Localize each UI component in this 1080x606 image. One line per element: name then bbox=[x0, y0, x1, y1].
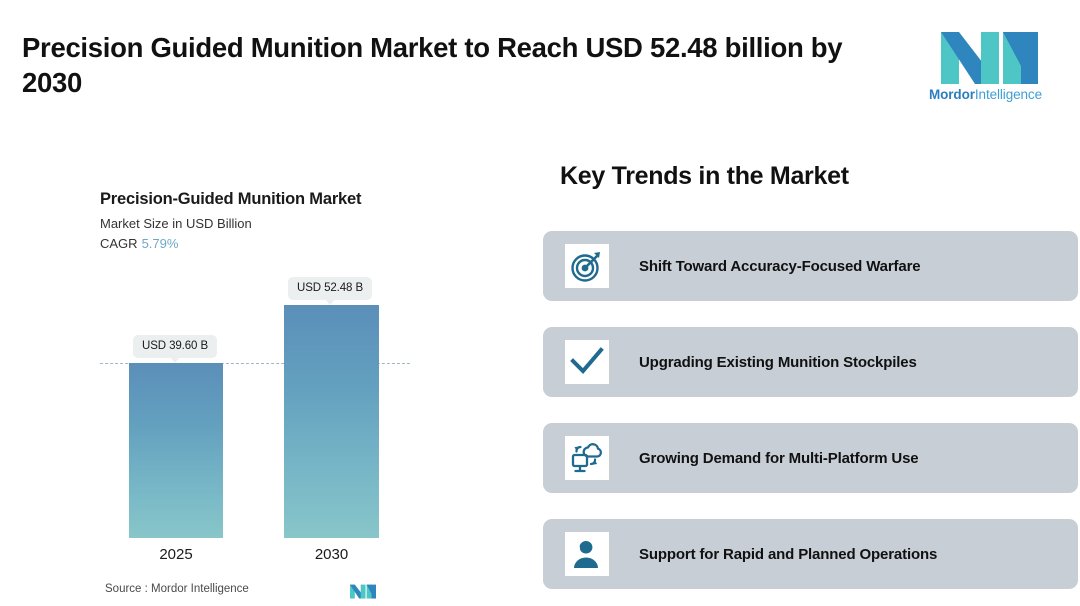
page-title: Precision Guided Munition Market to Reac… bbox=[22, 30, 902, 100]
bar-value-label-2030: USD 52.48 B bbox=[288, 277, 372, 300]
trend-card-4-label: Support for Rapid and Planned Operations bbox=[639, 519, 937, 589]
mordor-intelligence-mark-icon bbox=[350, 582, 376, 599]
trend-card-1[interactable]: Shift Toward Accuracy-Focused Warfare bbox=[543, 231, 1078, 301]
brand-name-light: Intelligence bbox=[975, 87, 1042, 102]
brand-logo: MordorIntelligence bbox=[913, 24, 1058, 106]
key-trends-panel: Key Trends in the Market Shift Toward Ac… bbox=[543, 140, 1080, 606]
mordor-intelligence-logo-icon bbox=[941, 24, 1038, 84]
source-label: Source : bbox=[105, 583, 148, 595]
trend-card-2[interactable]: Upgrading Existing Munition Stockpiles bbox=[543, 327, 1078, 397]
brand-name-bold: Mordor bbox=[929, 87, 975, 102]
bar-value-label-2025: USD 39.60 B bbox=[133, 335, 217, 358]
trend-card-3-label: Growing Demand for Multi-Platform Use bbox=[639, 423, 918, 493]
trend-card-1-label: Shift Toward Accuracy-Focused Warfare bbox=[639, 231, 920, 301]
checkmark-icon bbox=[565, 340, 609, 384]
chart-source: Source : Mordor Intelligence bbox=[105, 582, 405, 604]
page-header: Precision Guided Munition Market to Reac… bbox=[0, 0, 1080, 125]
bar-2025 bbox=[129, 363, 223, 538]
bar-2030 bbox=[284, 305, 379, 538]
cloud-sync-monitor-icon bbox=[565, 436, 609, 480]
trend-card-3[interactable]: Growing Demand for Multi-Platform Use bbox=[543, 423, 1078, 493]
source-name: Mordor Intelligence bbox=[151, 583, 249, 595]
x-axis-tick-2030: 2030 bbox=[284, 546, 379, 563]
key-trends-heading: Key Trends in the Market bbox=[560, 162, 849, 191]
brand-wordmark: MordorIntelligence bbox=[913, 87, 1058, 102]
x-axis-tick-2025: 2025 bbox=[129, 546, 223, 563]
support-agent-icon bbox=[565, 532, 609, 576]
bar-chart-plot: USD 39.60 B USD 52.48 B 2025 2030 bbox=[0, 140, 520, 606]
trend-card-4[interactable]: Support for Rapid and Planned Operations bbox=[543, 519, 1078, 589]
chart-panel: Precision-Guided Munition Market Market … bbox=[0, 140, 520, 606]
source-text: Source : Mordor Intelligence bbox=[105, 583, 249, 595]
trend-card-2-label: Upgrading Existing Munition Stockpiles bbox=[639, 327, 917, 397]
target-icon bbox=[565, 244, 609, 288]
